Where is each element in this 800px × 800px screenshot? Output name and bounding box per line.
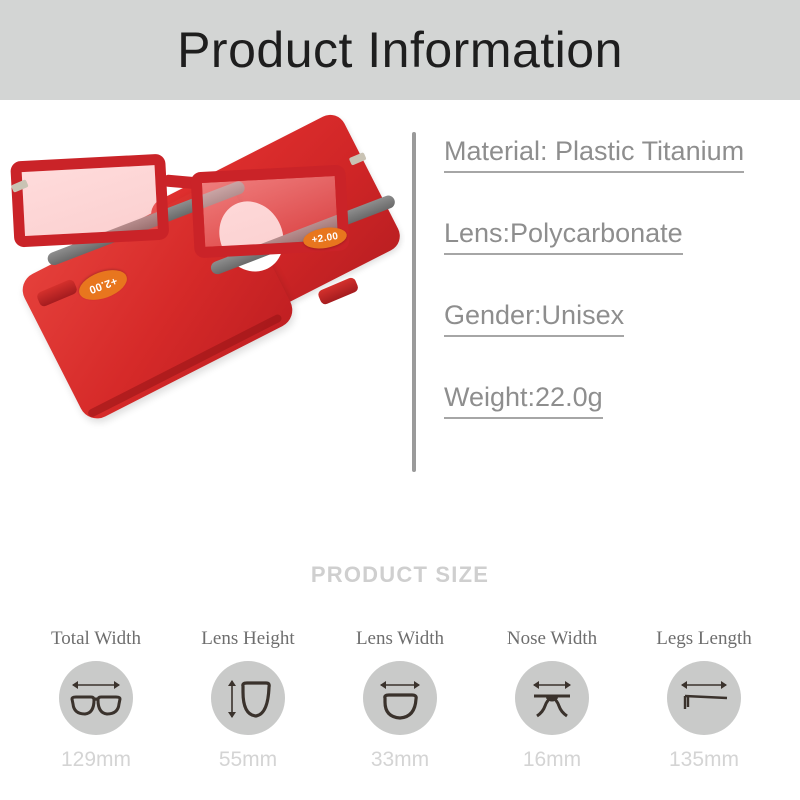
product-overview-section: +2.00 +2.00 Material: Plastic Titanium (0, 100, 800, 520)
product-size-heading: PRODUCT SIZE (0, 562, 800, 588)
page-title: Product Information (177, 21, 623, 79)
temple-arm-icon (667, 661, 741, 735)
lens-height-icon (211, 661, 285, 735)
size-value-nose-width: 16mm (523, 748, 581, 772)
size-item-total-width: Total Width 129mm (22, 628, 170, 772)
spec-weight-text: Weight:22.0g (444, 382, 603, 419)
page-header: Product Information (0, 0, 800, 100)
size-item-legs-length: Legs Length 135mm (630, 628, 778, 772)
size-value-lens-width: 33mm (371, 748, 429, 772)
size-label-legs-length: Legs Length (656, 628, 752, 650)
spec-row-lens: Lens:Polycarbonate (444, 218, 784, 255)
vertical-divider (412, 132, 416, 472)
size-label-nose-width: Nose Width (507, 628, 597, 650)
size-label-lens-height: Lens Height (201, 628, 294, 650)
size-value-legs-length: 135mm (669, 748, 739, 772)
spec-row-gender: Gender:Unisex (444, 300, 784, 337)
product-photo-stage: +2.00 +2.00 (0, 100, 405, 520)
spec-row-weight: Weight:22.0g (444, 382, 784, 419)
glasses-width-icon (59, 661, 133, 735)
temple-tip-left (36, 278, 79, 307)
specification-list: Material: Plastic Titanium Lens:Polycarb… (444, 136, 784, 464)
size-item-lens-width: Lens Width 33mm (326, 628, 474, 772)
size-label-lens-width: Lens Width (356, 628, 444, 650)
size-value-lens-height: 55mm (219, 748, 277, 772)
size-value-total-width: 129mm (61, 748, 131, 772)
size-label-total-width: Total Width (51, 628, 141, 650)
product-photo: +2.00 +2.00 (0, 100, 405, 520)
nose-bridge-icon (515, 661, 589, 735)
size-measurement-grid: Total Width 129mm (22, 628, 778, 772)
lens-width-icon (363, 661, 437, 735)
spec-row-material: Material: Plastic Titanium (444, 136, 784, 173)
size-item-nose-width: Nose Width 16mm (478, 628, 626, 772)
spec-gender-text: Gender:Unisex (444, 300, 624, 337)
spec-lens-text: Lens:Polycarbonate (444, 218, 683, 255)
product-size-section: PRODUCT SIZE Total Width (0, 540, 800, 800)
eyeglasses-illustration (0, 100, 405, 381)
temple-tip-right (317, 276, 360, 305)
spec-material-text: Material: Plastic Titanium (444, 136, 744, 173)
lens-left (10, 154, 169, 248)
size-item-lens-height: Lens Height 55mm (174, 628, 322, 772)
